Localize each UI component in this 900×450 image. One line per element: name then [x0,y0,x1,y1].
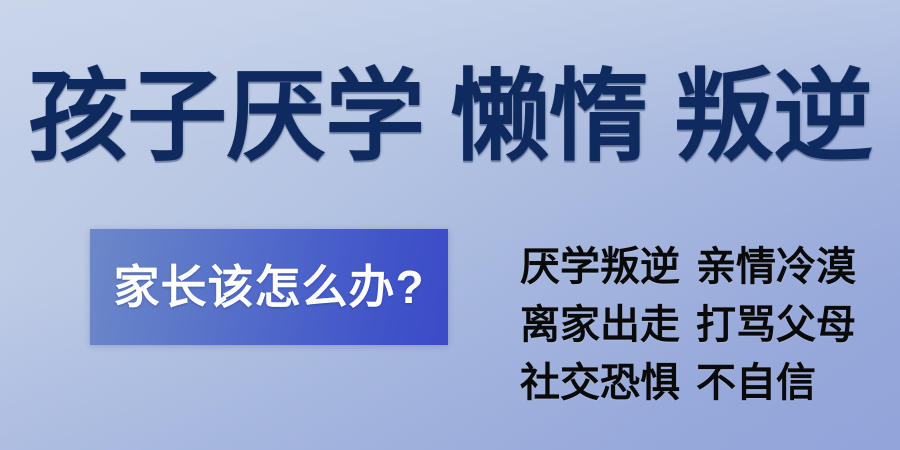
page-title: 孩子厌学懒惰叛逆 [0,58,900,176]
symptom-item: 离家出走 [520,296,680,354]
symptom-item: 社交恐惧 [520,354,680,412]
headline-part-2: 懒惰 [450,58,648,176]
question-badge: 家长该怎么办? [90,229,448,345]
question-badge-label: 家长该怎么办? [113,262,424,312]
symptom-item: 不自信 [696,354,816,412]
headline-part-3: 叛逆 [674,58,872,176]
symptom-item: 打骂父母 [696,296,856,354]
symptom-list: 厌学叛逆亲情冷漠 离家出走打骂父母 社交恐惧不自信 [520,238,880,412]
symptom-row: 厌学叛逆亲情冷漠 [520,238,880,296]
symptom-row: 社交恐惧不自信 [520,354,880,412]
poster-canvas: 孩子厌学懒惰叛逆 家长该怎么办? 厌学叛逆亲情冷漠 离家出走打骂父母 社交恐惧不… [0,0,900,450]
symptom-row: 离家出走打骂父母 [520,296,880,354]
headline-part-1: 孩子厌学 [28,58,424,176]
symptom-item: 亲情冷漠 [696,238,856,296]
symptom-item: 厌学叛逆 [520,238,680,296]
